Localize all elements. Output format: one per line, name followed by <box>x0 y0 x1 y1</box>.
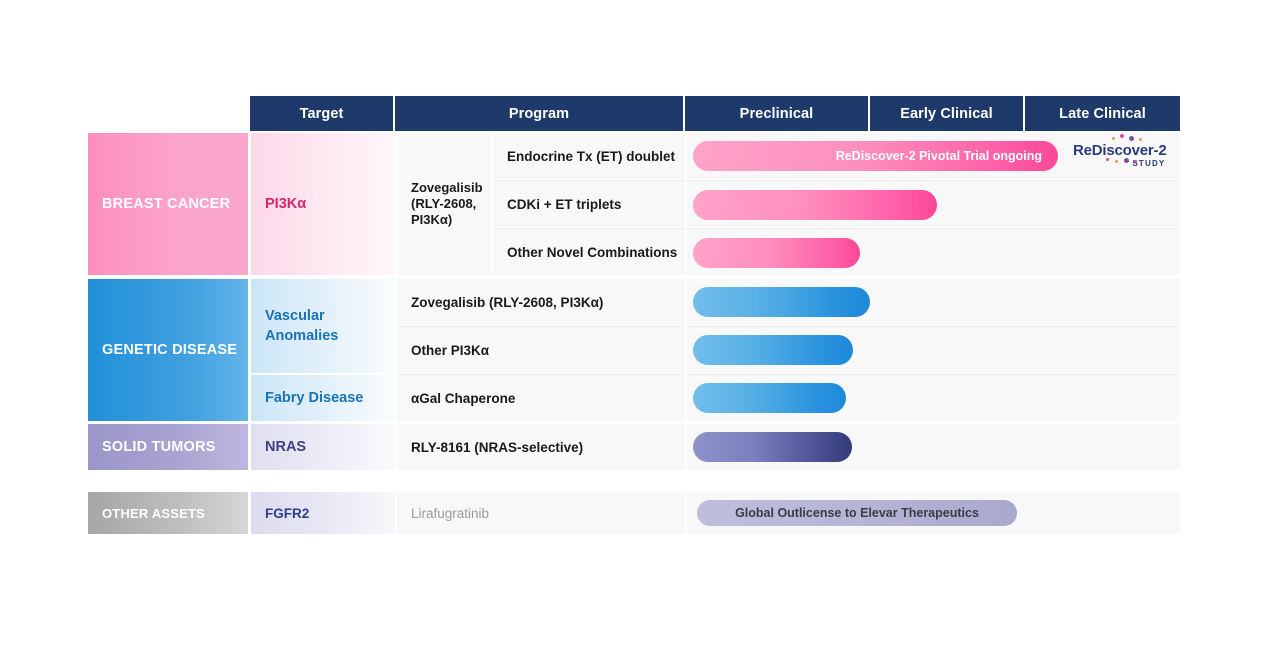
section-divider <box>88 470 1180 492</box>
progress-bar-label: ReDiscover-2 Pivotal Trial ongoing <box>836 149 1042 163</box>
program-cdki-et-triplets: CDKi + ET triplets <box>493 181 685 227</box>
column-header-program: Program <box>395 96 685 131</box>
logo-subtitle: STUDY <box>1132 159 1165 168</box>
column-header-preclinical: Preclinical <box>685 96 870 131</box>
indication-genetic-disease: GENETIC DISEASE <box>88 279 248 421</box>
target-divider <box>251 373 395 375</box>
target-vascular-anomalies: Vascular Anomalies <box>251 279 395 373</box>
logo-dot-icon <box>1129 136 1134 141</box>
logo-name: ReDiscover-2 <box>1073 143 1166 158</box>
target-pi3k-alpha: PI3Kα <box>251 133 395 275</box>
row-divider <box>397 374 1180 375</box>
indication-other-assets: OTHER ASSETS <box>88 492 248 534</box>
target-fabry-disease: Fabry Disease <box>251 375 395 421</box>
program-agal-chaperone: αGal Chaperone <box>397 375 685 421</box>
row-divider <box>493 180 1180 181</box>
logo-graphic: ReDiscover-2 <box>1073 143 1166 158</box>
program-endocrine-doublet: Endocrine Tx (ET) doublet <box>493 133 685 179</box>
logo-dot-icon <box>1124 158 1129 163</box>
progress-bar-agal-chaperone <box>693 383 846 413</box>
program-group-zovegalisib: Zovegalisib (RLY-2608, PI3Kα) <box>397 133 491 275</box>
program-other-pi3k-alpha: Other PI3Kα <box>397 327 685 373</box>
logo-dot-icon <box>1139 138 1142 141</box>
program-rly-8161: RLY-8161 (NRAS-selective) <box>397 424 685 470</box>
progress-bar-lirafugratinib: Global Outlicense to Elevar Therapeutics <box>697 500 1017 526</box>
pipeline-chart: Target Program Preclinical Early Clinica… <box>0 0 1280 647</box>
logo-dot-icon <box>1106 158 1109 161</box>
indication-solid-tumors: SOLID TUMORS <box>88 424 248 470</box>
column-header-late-clinical: Late Clinical <box>1025 96 1180 131</box>
target-fgfr2: FGFR2 <box>251 492 395 534</box>
logo-dot-icon <box>1134 160 1137 163</box>
indication-breast-cancer: BREAST CANCER <box>88 133 248 275</box>
progress-bar-label: Global Outlicense to Elevar Therapeutics <box>735 506 979 520</box>
progress-bar-other-pi3k-alpha <box>693 335 853 365</box>
program-other-novel-combinations: Other Novel Combinations <box>493 229 685 275</box>
program-lirafugratinib: Lirafugratinib <box>397 492 685 534</box>
target-nras: NRAS <box>251 424 395 470</box>
progress-bar-zovegalisib-vascular <box>693 287 870 317</box>
logo-dot-icon <box>1112 137 1115 140</box>
progress-bar-endocrine-doublet: ReDiscover-2 Pivotal Trial ongoing <box>693 141 1058 171</box>
section-divider <box>88 131 1180 133</box>
logo-dot-icon <box>1120 134 1124 138</box>
section-divider <box>88 421 1180 424</box>
logo-dot-icon <box>1115 160 1118 163</box>
program-zovegalisib-vascular: Zovegalisib (RLY-2608, PI3Kα) <box>397 279 685 325</box>
column-header-target: Target <box>250 96 395 131</box>
row-divider <box>493 228 1180 229</box>
column-header-early-clinical: Early Clinical <box>870 96 1025 131</box>
section-divider <box>88 275 1180 279</box>
program-group-label: Zovegalisib (RLY-2608, PI3Kα) <box>411 180 491 228</box>
row-divider <box>397 326 1180 327</box>
progress-bar-cdki-et-triplets <box>693 190 937 220</box>
progress-bar-other-novel-combinations <box>693 238 860 268</box>
column-divider <box>491 133 493 275</box>
target-label: Vascular Anomalies <box>265 306 395 346</box>
progress-bar-rly-8161 <box>693 432 852 462</box>
rediscover-2-logo: ReDiscover-2 STUDY <box>1073 143 1166 168</box>
table-header-row: Target Program Preclinical Early Clinica… <box>250 96 1180 131</box>
